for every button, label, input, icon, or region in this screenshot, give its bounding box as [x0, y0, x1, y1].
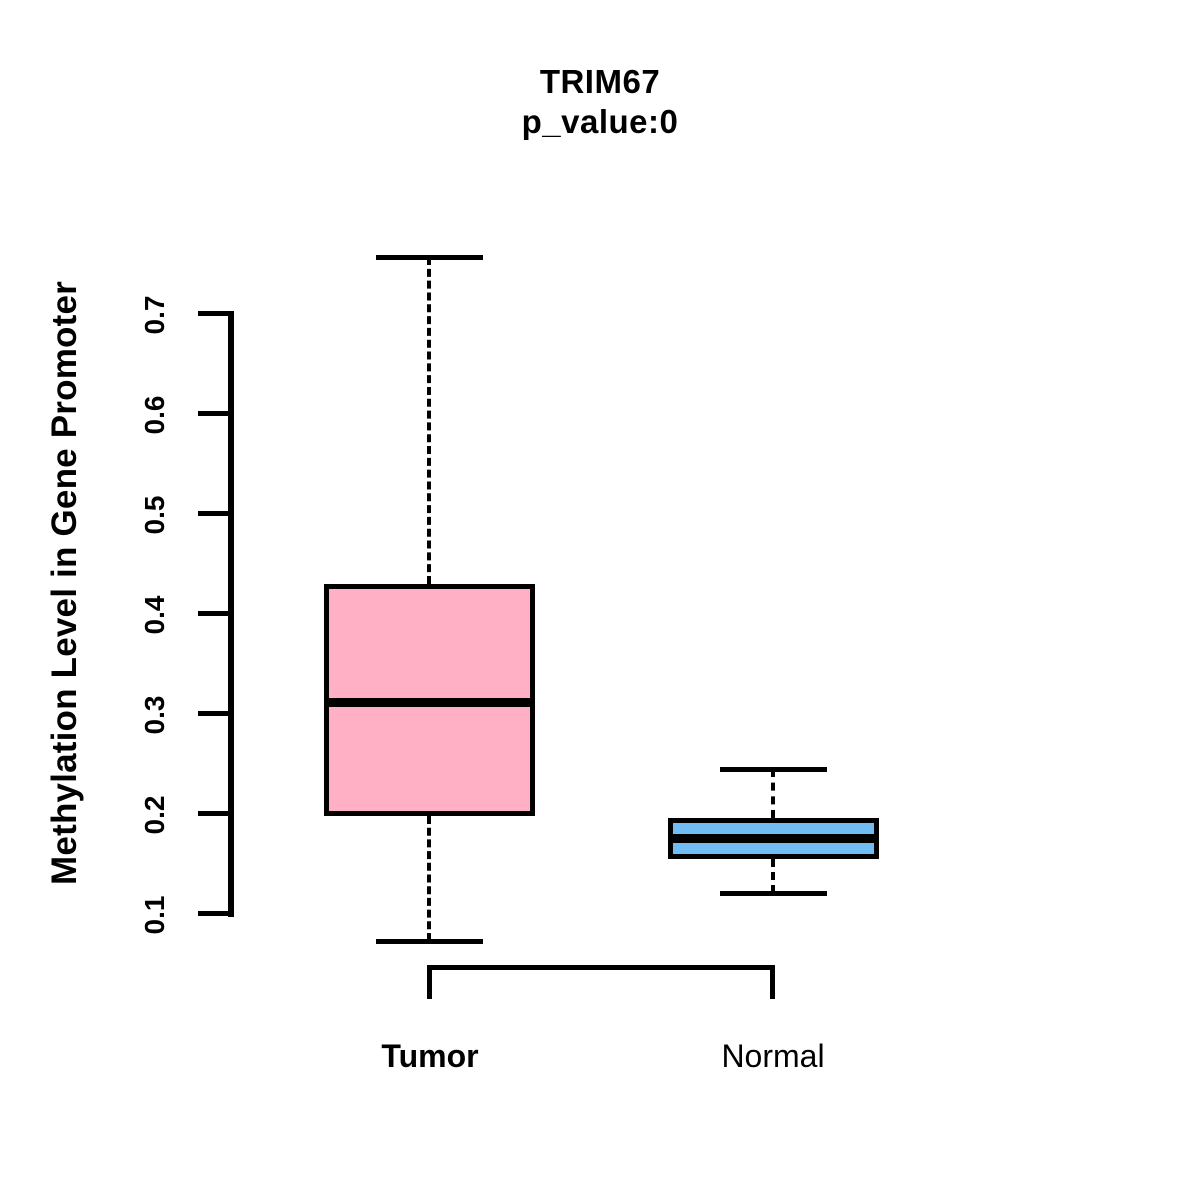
tumor-upper-whisker-stem: [427, 257, 431, 584]
normal-median-line: [668, 834, 879, 843]
y-tick-mark-0.2: [198, 811, 234, 816]
normal-lower-whisker-cap: [720, 891, 827, 896]
page-title: TRIM67: [0, 62, 1200, 102]
normal-lower-whisker-stem: [771, 859, 775, 893]
x-axis-label-normal: Normal: [593, 1038, 953, 1075]
y-tick-mark-0.3: [198, 711, 234, 716]
x-axis-bracket: [427, 965, 775, 970]
y-tick-label-0.1: 0.1: [139, 855, 171, 975]
x-axis-bracket-tick-right: [770, 965, 775, 999]
chart-subtitle: p_value:0: [0, 102, 1200, 142]
x-axis-bracket-tick-left: [427, 965, 432, 999]
y-tick-mark-0.7: [198, 311, 234, 316]
y-tick-mark-0.6: [198, 411, 234, 416]
y-tick-mark-0.4: [198, 611, 234, 616]
boxplot-figure: TRIM67 p_value:0 Methylation Level in Ge…: [0, 0, 1200, 1200]
tumor-lower-whisker-cap: [376, 939, 483, 944]
chart-title-block: TRIM67 p_value:0: [0, 62, 1200, 143]
y-tick-mark-0.5: [198, 511, 234, 516]
y-tick-mark-0.1: [198, 911, 234, 916]
normal-upper-whisker-stem: [771, 769, 775, 818]
tumor-lower-whisker-stem: [427, 816, 431, 941]
x-axis-label-tumor: Tumor: [250, 1038, 610, 1075]
y-axis-title: Methylation Level in Gene Promoter: [45, 173, 85, 993]
tumor-median-line: [324, 698, 535, 707]
